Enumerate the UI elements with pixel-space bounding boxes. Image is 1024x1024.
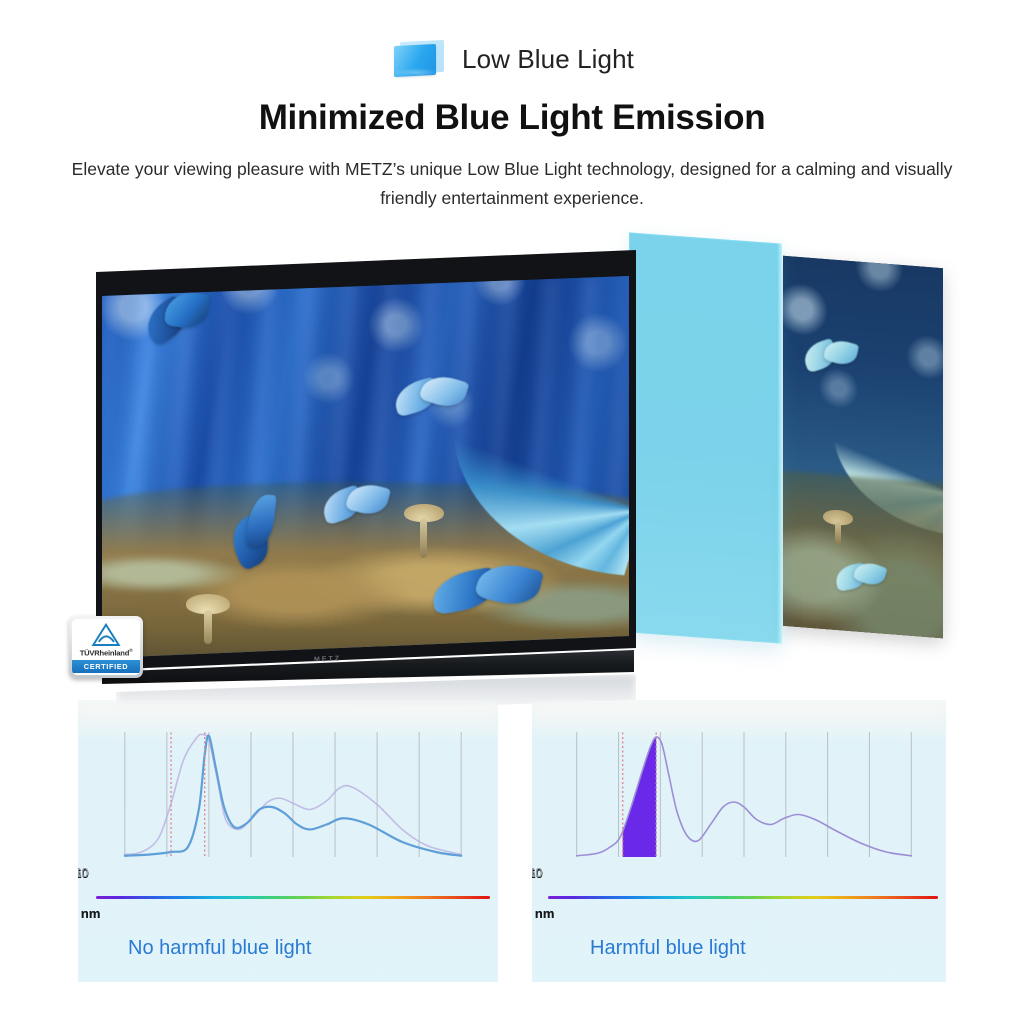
page-description: Elevate your viewing pleasure with METZ’… — [62, 155, 962, 213]
metz-logo: METZ — [314, 655, 341, 663]
spectrum-plot-left — [108, 732, 478, 857]
unfiltered-ground — [783, 469, 943, 638]
metz-television: METZ — [96, 250, 636, 700]
butterfly-icon — [394, 374, 468, 422]
x-tick-760: 760 — [78, 866, 88, 880]
unfiltered-display-panel — [783, 256, 943, 639]
nm-marker-455: 455 nm — [532, 906, 554, 921]
blue-light-filter-pane — [629, 232, 782, 643]
visible-spectrum-bar — [96, 896, 490, 899]
mushroom-icon — [823, 509, 853, 545]
x-axis-ticks-right: 360410460510560610660710760 — [532, 866, 946, 890]
spectrum-charts: 360410460510560610660710760 415 nm455 nm… — [0, 700, 1024, 990]
x-axis-ticks-left: 360410460510560610660710760 — [78, 866, 498, 890]
mushroom-icon — [186, 594, 230, 644]
butterfly-icon — [835, 560, 887, 598]
chart-harmful-blue-light: 360410460510560610660710760 415 nm455 nm… — [532, 700, 946, 982]
visible-spectrum-bar — [548, 896, 938, 899]
spectrum-plot-right — [560, 732, 928, 857]
butterfly-icon — [144, 292, 214, 348]
chart-no-harmful-blue-light: 360410460510560610660710760 415 nm455 nm… — [78, 700, 498, 982]
chart-caption-right: Harmful blue light — [590, 937, 746, 960]
tv-screen — [102, 276, 629, 658]
nm-marker-455: 455 nm — [78, 906, 100, 921]
tuv-triangle-icon — [91, 622, 121, 647]
page-title: Minimized Blue Light Emission — [0, 98, 1024, 138]
tuv-rheinland-certified-badge: TÜVRheinland® CERTIFIED — [69, 616, 143, 678]
butterfly-icon — [228, 494, 288, 570]
tv-screen-icon — [390, 38, 448, 80]
butterfly-icon — [803, 335, 859, 379]
low-blue-light-badge: Low Blue Light — [0, 38, 1024, 80]
low-blue-light-page: Low Blue Light Minimized Blue Light Emis… — [0, 0, 1024, 1024]
chart-caption-left: No harmful blue light — [128, 937, 311, 960]
tuv-organization-label: TÜVRheinland® — [80, 648, 133, 658]
hero-illustration: METZ TÜVRheinland® CERTIFIED — [0, 228, 1024, 698]
mushroom-icon — [404, 504, 444, 558]
certified-label: CERTIFIED — [72, 660, 140, 673]
butterfly-icon — [322, 484, 388, 530]
badge-label: Low Blue Light — [462, 44, 634, 75]
x-tick-760: 760 — [532, 866, 542, 880]
butterfly-icon — [432, 562, 542, 622]
